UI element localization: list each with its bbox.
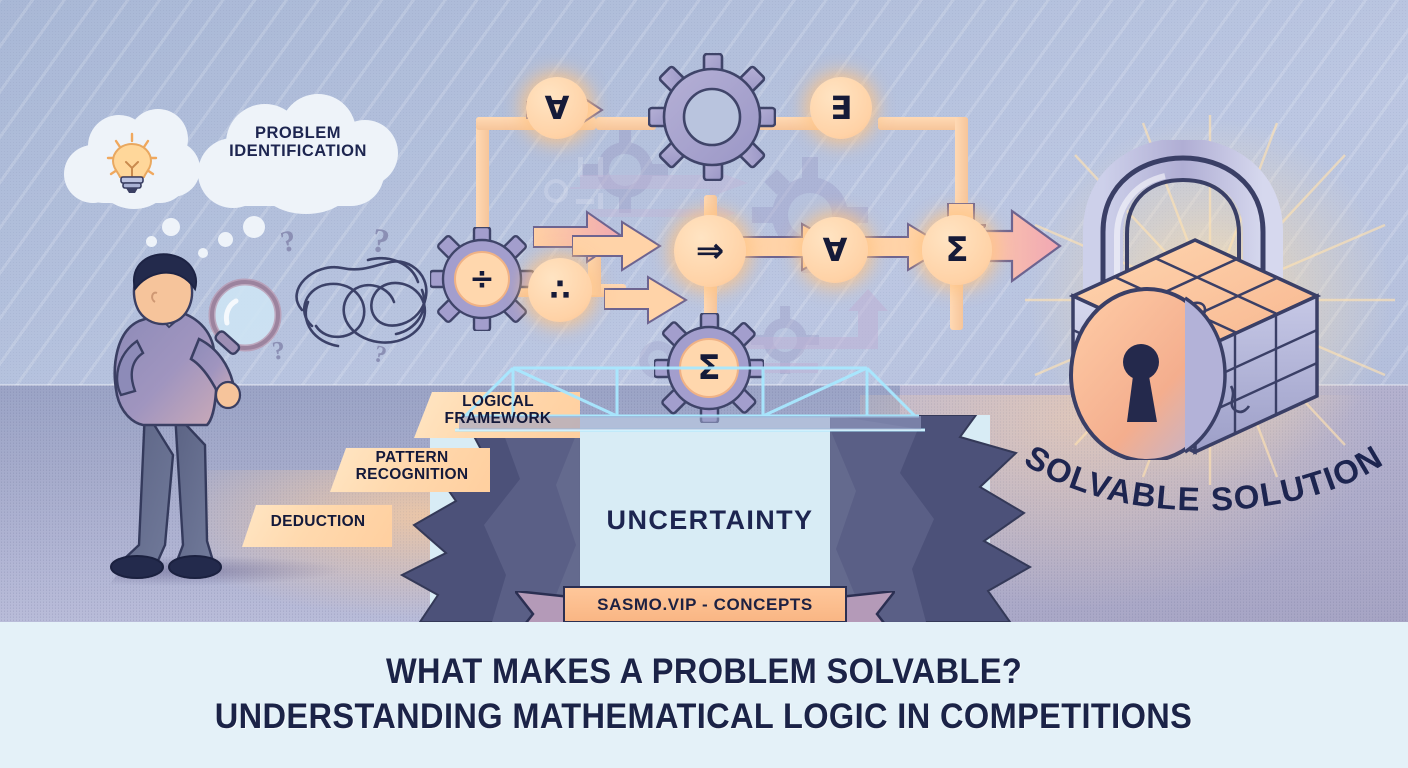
step-label-deduction: DEDUCTION <box>248 514 388 531</box>
step-label-pattern-recognition: PATTERN RECOGNITION <box>334 450 490 483</box>
node-therefore: ∴ <box>528 258 592 322</box>
problem-bubble-line1: PROBLEM <box>255 124 341 142</box>
node-forall-top-symbol: ∀ <box>545 89 570 127</box>
step-pattern-line2: RECOGNITION <box>356 466 469 483</box>
ribbon-text: SASMO.VIP - CONCEPTS <box>597 595 813 615</box>
bubble-dot-large <box>243 216 265 238</box>
step-logical-line1: LOGICAL <box>462 393 534 410</box>
pipe-forall-to-gear <box>596 117 656 130</box>
node-sigma-right: Σ <box>922 215 992 285</box>
node-exists-top-symbol: ∃ <box>830 89 852 127</box>
node-forall-mid-symbol: ∀ <box>823 231 848 269</box>
solvable-solution-label: SOLVABLE SOLUTION <box>1000 412 1408 522</box>
node-implies-symbol: ⇒ <box>696 231 725 271</box>
ribbon-tail-right <box>839 591 895 622</box>
bubble-dot-b <box>162 218 180 236</box>
illustration-scene: PROBLEM IDENTIFICATION <box>0 0 1408 622</box>
node-sigma-right-symbol: Σ <box>945 230 968 270</box>
ribbon-banner: SASMO.VIP - CONCEPTS <box>515 586 895 622</box>
arrow-into-implies <box>572 220 664 272</box>
node-forall-top: ∀ <box>526 77 588 139</box>
problem-identification-cloud: PROBLEM IDENTIFICATION <box>198 92 398 218</box>
problem-bubble-text: PROBLEM IDENTIFICATION <box>198 124 398 161</box>
ribbon-plate: SASMO.VIP - CONCEPTS <box>563 586 847 622</box>
node-implies: ⇒ <box>674 215 746 287</box>
step-pattern-line1: PATTERN <box>376 449 449 466</box>
problem-bubble-line2: IDENTIFICATION <box>229 142 367 160</box>
title-line-2: UNDERSTANDING MATHEMATICAL LOGIC IN COMP… <box>215 694 1192 740</box>
title-line-1: WHAT MAKES A PROBLEM SOLVABLE? <box>386 650 1022 694</box>
title-band: WHAT MAKES A PROBLEM SOLVABLE? UNDERSTAN… <box>0 622 1408 768</box>
lightbulb-icon <box>104 132 160 196</box>
node-therefore-symbol: ∴ <box>550 273 571 308</box>
step-logical-line2: FRAMEWORK <box>445 410 552 427</box>
infographic-canvas: PROBLEM IDENTIFICATION <box>0 0 1408 768</box>
node-divide: ÷ <box>430 227 534 331</box>
node-forall-mid: ∀ <box>802 217 868 283</box>
node-ring-gear <box>648 53 776 181</box>
step-label-logical-framework: LOGICAL FRAMEWORK <box>418 394 578 427</box>
node-exists-top: ∃ <box>810 77 872 139</box>
uncertainty-label: UNCERTAINTY <box>560 505 860 536</box>
svg-text:SOLVABLE SOLUTION: SOLVABLE SOLUTION <box>1019 438 1389 518</box>
